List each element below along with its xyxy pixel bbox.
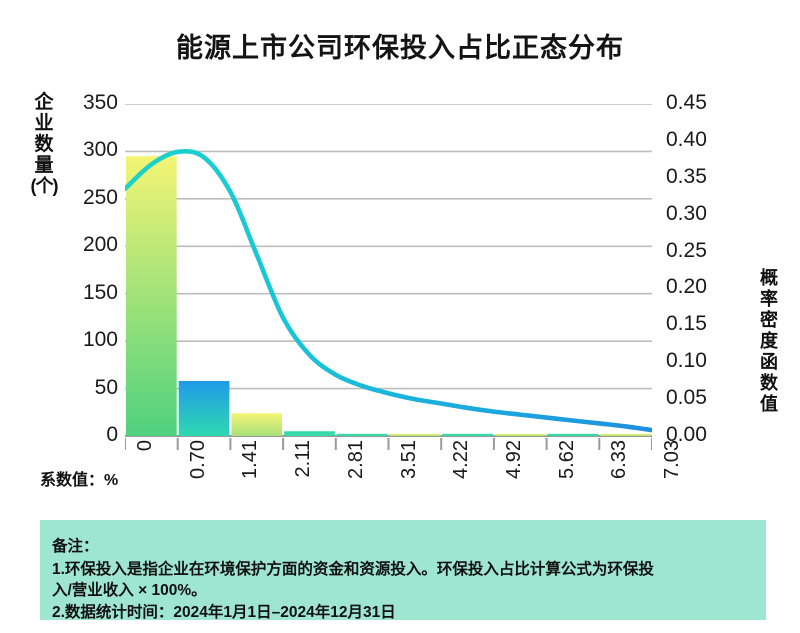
y-tick-label-right: 0.10	[666, 349, 732, 373]
y-axis-right-ticks: 0.000.050.100.150.200.250.300.350.400.45	[666, 104, 746, 436]
x-axis-title: 系数值：%	[40, 466, 118, 490]
chart-svg	[125, 104, 652, 484]
y-tick-label-right: 0.05	[666, 386, 732, 410]
note-line-3: 2.数据统计时间：2024年1月1日–2024年12月31日	[52, 602, 756, 624]
y-tick-label-left: 300	[64, 138, 118, 162]
y-right-char-0: 概	[756, 268, 782, 289]
y-right-char-2: 密	[756, 310, 782, 331]
note-box: 备注： 1.环保投入是指企业在环境保护方面的资金和资源投入。环保投入占比计算公式…	[40, 520, 766, 620]
bar	[548, 434, 599, 436]
y-tick-label-right: 0.35	[666, 165, 732, 189]
bar	[284, 431, 335, 436]
chart-container: 能源上市公司环保投入占比正态分布 企 业 数 量 (个) 概 率 密 度 函 数…	[0, 0, 800, 633]
y-axis-left-ticks: 050100150200250300350	[56, 104, 118, 436]
note-heading: 备注：	[52, 536, 756, 558]
y-tick-label-left: 250	[64, 186, 118, 210]
y-right-char-4: 函	[756, 352, 782, 373]
note-line-2: 入/营业收入 × 100%。	[52, 580, 756, 602]
y-tick-label-right: 0.30	[666, 202, 732, 226]
y-tick-label-right: 0.40	[666, 128, 732, 152]
bar	[179, 381, 230, 436]
bar	[390, 434, 441, 436]
x-tick-label: 7.03	[661, 440, 684, 479]
y-tick-label-left: 0	[64, 423, 118, 447]
plot-area	[125, 104, 652, 436]
y-right-char-1: 率	[756, 289, 782, 310]
chart-title: 能源上市公司环保投入占比正态分布	[0, 26, 800, 65]
y-tick-label-right: 0.45	[666, 91, 732, 115]
y-tick-label-left: 150	[64, 281, 118, 305]
y-axis-right-title: 概 率 密 度 函 数 值	[756, 268, 782, 415]
y-right-char-5: 数	[756, 373, 782, 394]
bar	[126, 156, 177, 436]
y-tick-label-right: 0.25	[666, 239, 732, 263]
y-right-char-6: 值	[756, 394, 782, 415]
y-tick-label-left: 200	[64, 233, 118, 257]
bar	[495, 434, 546, 436]
bar	[600, 434, 651, 436]
bar	[337, 434, 388, 436]
y-tick-label-right: 0.15	[666, 312, 732, 336]
y-tick-label-right: 0.20	[666, 275, 732, 299]
bar	[231, 413, 282, 436]
y-tick-label-left: 100	[64, 328, 118, 352]
y-tick-label-left: 50	[64, 376, 118, 400]
note-line-1: 1.环保投入是指企业在环境保护方面的资金和资源投入。环保投入占比计算公式为环保投	[52, 559, 756, 581]
y-tick-label-left: 350	[64, 91, 118, 115]
bar	[442, 434, 493, 436]
y-right-char-3: 度	[756, 331, 782, 352]
